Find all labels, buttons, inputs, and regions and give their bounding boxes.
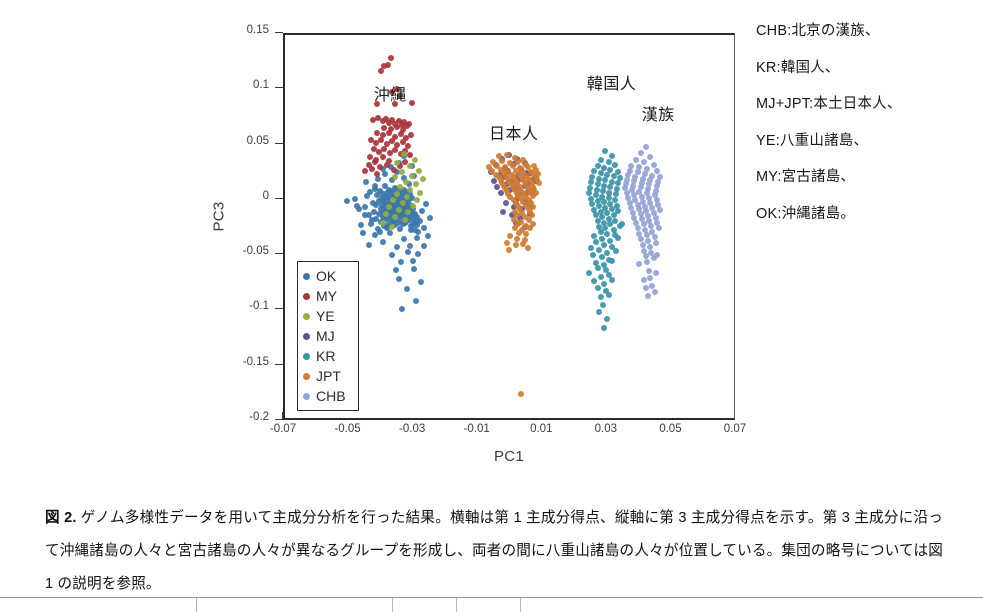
legend-item-ye[interactable]: YE: [303, 306, 354, 326]
scatter-plot-wrapper: PC3 PC1 0.150.10.050-0.05-0.1-0.15-0.2 -…: [195, 18, 755, 478]
legend-item-label: CHB: [316, 389, 346, 403]
point-ok: [397, 226, 403, 232]
y-tick-label: -0.15: [195, 356, 269, 368]
point-ye: [402, 217, 408, 223]
point-my: [369, 166, 375, 172]
point-ye: [413, 181, 419, 187]
legend-item-my[interactable]: MY: [303, 286, 354, 306]
point-kr: [595, 265, 601, 271]
point-ye: [414, 197, 420, 203]
point-ok: [404, 286, 410, 292]
figure-page: PC3 PC1 0.150.10.050-0.05-0.1-0.15-0.2 -…: [0, 0, 983, 612]
point-ok: [362, 204, 368, 210]
point-kr: [595, 285, 601, 291]
point-chb: [647, 275, 653, 281]
point-kr: [598, 274, 604, 280]
point-my: [388, 55, 394, 61]
point-jpt: [506, 247, 512, 253]
x-tick-label: -0.03: [382, 423, 442, 435]
x-tick-label: 0.03: [576, 423, 636, 435]
y-tick-mark: [275, 198, 283, 199]
point-ye: [380, 220, 386, 226]
point-my: [378, 68, 384, 74]
point-kr: [609, 277, 615, 283]
legend-item-label: KR: [316, 349, 335, 363]
point-ok: [389, 252, 395, 258]
point-jpt: [527, 225, 533, 231]
x-axis-label: PC1: [283, 448, 735, 465]
point-ok: [358, 222, 364, 228]
point-kr: [609, 258, 615, 264]
point-my: [380, 154, 386, 160]
population-key-line: CHB:北京の漢族、: [756, 24, 978, 39]
legend-marker-icon: [303, 273, 310, 280]
point-my: [362, 168, 368, 174]
point-ye: [420, 176, 426, 182]
point-ok: [352, 196, 358, 202]
point-chb: [654, 168, 660, 174]
point-kr: [598, 229, 604, 235]
point-ok: [415, 251, 421, 257]
point-ok: [366, 242, 372, 248]
y-tick-mark: [275, 364, 283, 365]
point-jpt: [536, 180, 542, 186]
x-tick-label: 0.05: [640, 423, 700, 435]
point-ok: [344, 198, 350, 204]
point-my: [367, 154, 373, 160]
x-tick-label: 0.01: [511, 423, 571, 435]
point-kr: [600, 302, 606, 308]
legend-item-mj[interactable]: MJ: [303, 326, 354, 346]
population-key-line: KR:韓国人、: [756, 61, 978, 76]
point-ye: [392, 174, 398, 180]
point-ok: [393, 267, 399, 273]
legend-item-label: OK: [316, 269, 336, 283]
point-my: [384, 162, 390, 168]
point-kr: [599, 254, 605, 260]
point-kr: [613, 248, 619, 254]
point-ok: [418, 279, 424, 285]
point-ok: [410, 258, 416, 264]
point-jpt: [518, 391, 524, 397]
point-ok: [419, 208, 425, 214]
point-ok: [425, 233, 431, 239]
point-chb: [649, 283, 655, 289]
point-chb: [651, 162, 657, 168]
point-ok: [407, 243, 413, 249]
point-chb: [647, 154, 653, 160]
point-ye: [409, 173, 415, 179]
y-tick-label: -0.1: [195, 300, 269, 312]
legend-item-jpt[interactable]: JPT: [303, 366, 354, 386]
point-kr: [591, 168, 597, 174]
point-kr: [612, 162, 618, 168]
point-my: [408, 132, 414, 138]
point-ye: [403, 179, 409, 185]
point-kr: [607, 238, 613, 244]
point-jpt: [515, 159, 521, 165]
figure-caption: 図 2. ゲノム多様性データを用いて主成分分析を行った結果。横軸は第 1 主成分…: [45, 502, 943, 601]
point-kr: [593, 239, 599, 245]
point-kr: [598, 294, 604, 300]
point-ok: [369, 217, 375, 223]
legend-marker-icon: [303, 333, 310, 340]
x-tick-label: -0.01: [447, 423, 507, 435]
y-tick-mark: [275, 87, 283, 88]
point-kr: [601, 325, 607, 331]
point-chb: [656, 225, 662, 231]
legend-marker-icon: [303, 373, 310, 380]
point-my: [391, 167, 397, 173]
point-my: [386, 130, 392, 136]
point-kr: [604, 316, 610, 322]
population-key-line: MY:宮古諸島、: [756, 170, 978, 185]
point-kr: [609, 153, 615, 159]
page-divider: [0, 597, 983, 598]
point-mj: [500, 209, 506, 215]
point-ok: [405, 249, 411, 255]
legend-item-label: YE: [316, 309, 335, 323]
caption-text: ゲノム多様性データを用いて主成分分析を行った結果。横軸は第 1 主成分得点、縦軸…: [45, 510, 943, 592]
point-mj: [503, 200, 509, 206]
point-ok: [398, 259, 404, 265]
point-chb: [643, 144, 649, 150]
footer-segment-4: [520, 598, 521, 612]
point-ye: [416, 168, 422, 174]
x-tick-label: -0.05: [318, 423, 378, 435]
point-my: [409, 100, 415, 106]
point-my: [374, 171, 380, 177]
point-ok: [377, 229, 383, 235]
point-jpt: [513, 242, 519, 248]
footer-segment-1: [196, 598, 197, 612]
point-kr: [590, 252, 596, 258]
point-ok: [414, 235, 420, 241]
point-kr: [586, 270, 592, 276]
point-jpt: [514, 236, 520, 242]
legend-item-label: MJ: [316, 329, 335, 343]
point-jpt: [516, 230, 522, 236]
point-ok: [414, 222, 420, 228]
point-ok: [399, 306, 405, 312]
legend-marker-icon: [303, 293, 310, 300]
point-chb: [643, 285, 649, 291]
point-kr: [591, 278, 597, 284]
point-ok: [415, 229, 421, 235]
annotation-label: 日本人: [489, 120, 539, 144]
point-ye: [417, 190, 423, 196]
point-jpt: [504, 240, 510, 246]
y-tick-label: 0.05: [195, 135, 269, 147]
point-ok: [363, 179, 369, 185]
point-ye: [389, 224, 395, 230]
point-jpt: [504, 152, 510, 158]
point-ye: [396, 207, 402, 213]
x-tick-label: -0.07: [253, 423, 313, 435]
point-ye: [404, 194, 410, 200]
y-tick-mark: [275, 308, 283, 309]
point-ok: [394, 244, 400, 250]
point-ok: [421, 243, 427, 249]
point-my: [385, 62, 391, 68]
point-ok: [423, 201, 429, 207]
y-tick-mark: [275, 32, 283, 33]
point-ye: [412, 157, 418, 163]
point-ye: [383, 211, 389, 217]
point-kr: [598, 157, 604, 163]
point-kr: [596, 247, 602, 253]
point-ok: [413, 298, 419, 304]
point-chb: [644, 259, 650, 265]
point-chb: [645, 293, 651, 299]
y-tick-label: -0.2: [195, 411, 269, 423]
legend-item-kr[interactable]: KR: [303, 346, 354, 366]
point-chb: [638, 150, 644, 156]
point-ok: [387, 230, 393, 236]
point-ye: [397, 184, 403, 190]
point-kr: [615, 235, 621, 241]
caption-label: 図 2.: [45, 510, 77, 526]
point-jpt: [499, 158, 505, 164]
point-jpt: [507, 233, 513, 239]
y-tick-mark: [275, 143, 283, 144]
annotation-label: 沖縄: [374, 81, 407, 105]
point-kr: [604, 250, 610, 256]
y-tick-label: -0.05: [195, 245, 269, 257]
legend-item-label: MY: [316, 289, 337, 303]
point-kr: [596, 309, 602, 315]
population-key-line: OK:沖縄諸島。: [756, 207, 978, 222]
point-ok: [380, 239, 386, 245]
point-chb: [657, 207, 663, 213]
y-tick-label: 0.1: [195, 79, 269, 91]
point-chb: [633, 157, 639, 163]
y-tick-label: 0.15: [195, 24, 269, 36]
point-mj: [498, 190, 504, 196]
y-tick-label: 0: [195, 190, 269, 202]
footer-segment-3: [456, 598, 457, 612]
point-chb: [653, 240, 659, 246]
point-kr: [619, 221, 625, 227]
annotation-label: 韓国人: [587, 70, 637, 94]
plot-area: 沖縄日本人韓国人漢族 OKMYYEMJKRJPTCHB: [283, 33, 735, 420]
series-legend[interactable]: OKMYYEMJKRJPTCHB: [297, 261, 359, 411]
legend-marker-icon: [303, 393, 310, 400]
figure-area: PC3 PC1 0.150.10.050-0.05-0.1-0.15-0.2 -…: [0, 0, 983, 486]
point-chb: [641, 277, 647, 283]
population-key-line: MJ+JPT:本土日本人、: [756, 97, 978, 112]
point-ok: [375, 176, 381, 182]
population-key-line: YE:八重山諸島、: [756, 134, 978, 149]
legend-item-label: JPT: [316, 369, 341, 383]
x-tick-label: 0.07: [705, 423, 765, 435]
point-chb: [636, 261, 642, 267]
point-jpt: [523, 231, 529, 237]
point-kr: [604, 231, 610, 237]
annotation-label: 漢族: [642, 101, 675, 125]
point-chb: [652, 289, 658, 295]
point-my: [406, 121, 412, 127]
footer-segment-2: [392, 598, 393, 612]
point-kr: [588, 245, 594, 251]
point-chb: [654, 252, 660, 258]
point-ok: [401, 236, 407, 242]
legend-marker-icon: [303, 353, 310, 360]
population-key: CHB:北京の漢族、KR:韓国人、MJ+JPT:本土日本人、YE:八重山諸島、M…: [756, 24, 978, 243]
legend-item-chb[interactable]: CHB: [303, 386, 354, 406]
point-ok: [354, 203, 360, 209]
point-ok: [411, 266, 417, 272]
point-chb: [641, 159, 647, 165]
point-chb: [653, 270, 659, 276]
point-ok: [396, 276, 402, 282]
point-ok: [360, 230, 366, 236]
legend-marker-icon: [303, 313, 310, 320]
y-tick-mark: [275, 253, 283, 254]
point-kr: [606, 159, 612, 165]
point-kr: [601, 281, 607, 287]
point-chb: [646, 268, 652, 274]
legend-item-ok[interactable]: OK: [303, 266, 354, 286]
point-chb: [645, 238, 651, 244]
point-kr: [602, 148, 608, 154]
point-kr: [601, 242, 607, 248]
point-ok: [427, 215, 433, 221]
point-ok: [421, 225, 427, 231]
point-jpt: [525, 245, 531, 251]
point-kr: [606, 292, 612, 298]
